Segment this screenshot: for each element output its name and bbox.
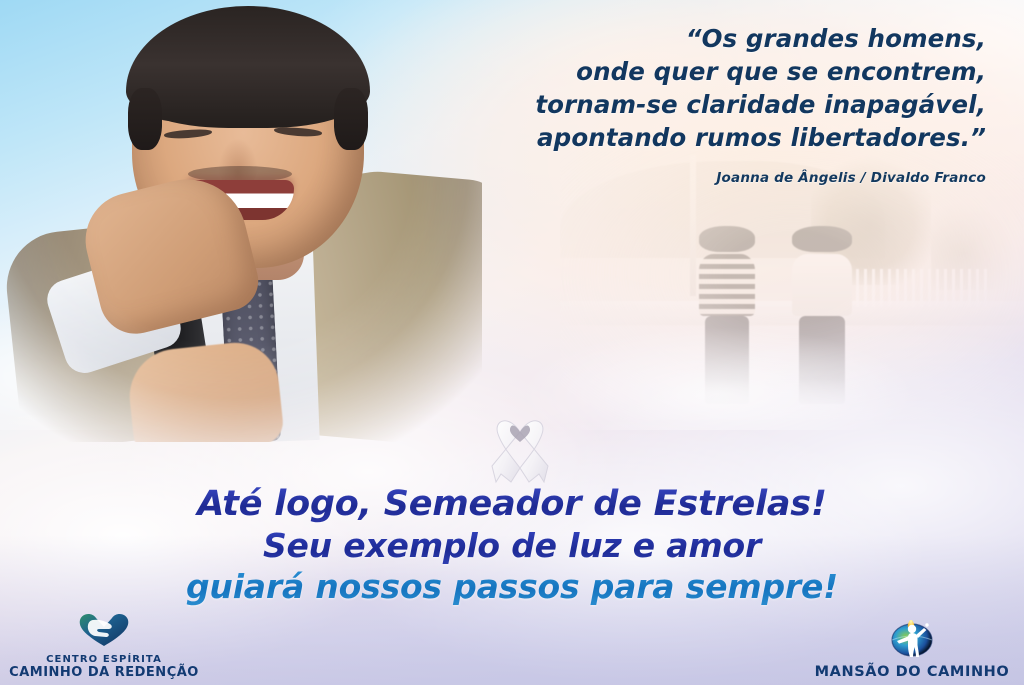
- quote-line-1: “Os grandes homens,: [426, 22, 986, 55]
- logo-mansao-do-caminho-text: MANSÃO DO CAMINHO: [806, 666, 1018, 679]
- quote-text: “Os grandes homens, onde quer que se enc…: [426, 22, 986, 154]
- quote-line-3: tornam-se claridade inapagável,: [426, 88, 986, 121]
- logo-centro-espirita-text: CENTRO ESPÍRITA CAMINHO DA REDENÇÃO: [4, 653, 204, 679]
- headline-line-2: Seu exemplo de luz e amor: [0, 525, 1024, 566]
- logo-mansao-do-caminho: MANSÃO DO CAMINHO: [806, 616, 1018, 679]
- logo-centro-espirita: CENTRO ESPÍRITA CAMINHO DA REDENÇÃO: [4, 611, 204, 679]
- globe-figure-icon: [806, 616, 1018, 664]
- headline: Até logo, Semeador de Estrelas! Seu exem…: [0, 484, 1024, 607]
- tribute-poster: “Os grandes homens, onde quer que se enc…: [0, 0, 1024, 685]
- white-mourning-ribbon-icon: [489, 412, 551, 484]
- logo-centro-espirita-line-2: CAMINHO DA REDENÇÃO: [4, 666, 204, 679]
- headline-line-1: Até logo, Semeador de Estrelas!: [0, 484, 1024, 525]
- quote-attribution: Joanna de Ângelis / Divaldo Franco: [426, 170, 986, 186]
- logo-mansao-do-caminho-line-2: MANSÃO DO CAMINHO: [806, 666, 1018, 679]
- headline-line-3: guiará nossos passos para sempre!: [0, 566, 1024, 607]
- portrait-photo: [2, 0, 482, 442]
- quote-line-2: onde quer que se encontrem,: [426, 55, 986, 88]
- heart-hands-icon: [4, 611, 204, 651]
- quote-line-4: apontando rumos libertadores.”: [426, 121, 986, 154]
